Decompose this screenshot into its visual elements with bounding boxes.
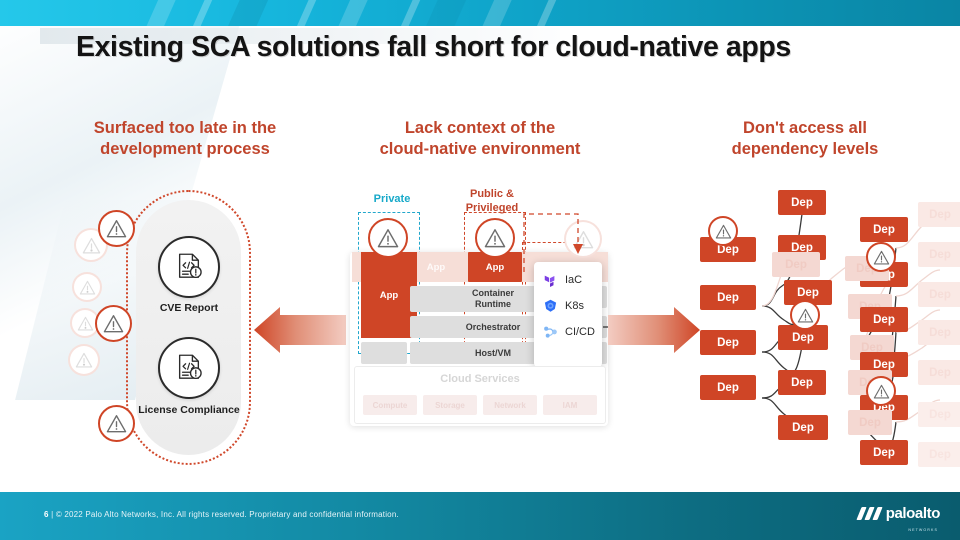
tooltip-card-context: IaC K8s CI/CD bbox=[534, 262, 602, 367]
page-number: 6 bbox=[44, 510, 49, 519]
dep-node-l2-6: Dep bbox=[778, 415, 828, 440]
cve-report-icon bbox=[158, 236, 220, 298]
dep-node-l1-3: Dep bbox=[700, 330, 756, 355]
dep-node-l2-5: Dep bbox=[778, 370, 826, 395]
cloud-tile-network: Network bbox=[483, 395, 537, 415]
dep-node-l4-1: Dep bbox=[918, 202, 960, 227]
warning-triangle-icon-1 bbox=[98, 210, 135, 247]
kubernetes-icon bbox=[542, 298, 558, 314]
slide: Existing SCA solutions fall short for cl… bbox=[0, 0, 960, 540]
license-compliance-label: License Compliance bbox=[129, 404, 249, 417]
cloud-services-box: Cloud Services Compute Storage Network I… bbox=[354, 366, 606, 424]
warning-triangle-icon-dep-1 bbox=[708, 216, 738, 246]
dep-node-l4-5: Dep bbox=[918, 360, 960, 385]
popup-item-iac-label: IaC bbox=[565, 274, 582, 286]
cloud-tile-iam: IAM bbox=[543, 395, 597, 415]
warning-triangle-icon-3 bbox=[98, 405, 135, 442]
arrow-right bbox=[608, 307, 700, 353]
app-tile-faded-1: App bbox=[410, 252, 462, 282]
paloalto-logo-text: paloalto bbox=[886, 505, 940, 522]
warning-triangle-icon-dep-2 bbox=[790, 300, 820, 330]
cloud-services-title: Cloud Services bbox=[355, 373, 605, 385]
page-title: Existing SCA solutions fall short for cl… bbox=[76, 31, 956, 64]
column-heading-middle: Lack context of the cloud-native environ… bbox=[355, 118, 605, 160]
warning-triangle-icon-ghost-4 bbox=[68, 344, 100, 376]
warning-triangle-icon-private bbox=[368, 218, 408, 258]
dep-node-l3-6: Dep bbox=[860, 440, 908, 465]
paloalto-logo-mark bbox=[859, 507, 881, 520]
column-heading-left: Surfaced too late in the development pro… bbox=[66, 118, 304, 160]
warning-triangle-icon-dep-3 bbox=[866, 242, 896, 272]
footer-separator: | bbox=[51, 510, 53, 519]
code-document-alert-icon bbox=[172, 250, 206, 284]
popup-item-iac[interactable]: IaC bbox=[542, 270, 582, 290]
warning-triangle-icon-2 bbox=[95, 305, 132, 342]
column-heading-right: Don't access all dependency levels bbox=[680, 118, 930, 160]
app-tile-private: App bbox=[361, 252, 417, 338]
popup-item-cicd[interactable]: CI/CD bbox=[542, 322, 595, 342]
column-heading-left-line1: Surfaced too late in the bbox=[66, 118, 304, 139]
terraform-icon bbox=[542, 272, 558, 288]
warning-triangle-icon-dep-4 bbox=[866, 376, 896, 406]
code-document-alert-icon bbox=[172, 351, 206, 385]
popup-item-cicd-label: CI/CD bbox=[565, 326, 595, 338]
column-heading-left-line2: development process bbox=[66, 139, 304, 160]
top-gradient-band bbox=[0, 0, 960, 26]
dep-node-l3-1: Dep bbox=[860, 217, 908, 242]
arrow-left bbox=[254, 307, 346, 353]
dep-node-l2-1: Dep bbox=[778, 190, 826, 215]
cloud-tile-storage: Storage bbox=[423, 395, 477, 415]
dep-node-l4-7: Dep bbox=[918, 442, 960, 467]
left-pill-dotted-outline bbox=[126, 190, 251, 465]
popup-item-k8s-label: K8s bbox=[565, 300, 584, 312]
dep-node-l4-2: Dep bbox=[918, 242, 960, 267]
warning-triangle-icon-ghost-2 bbox=[72, 272, 102, 302]
dep-node-l3-3: Dep bbox=[860, 307, 908, 332]
dep-node-l2-faded: Dep bbox=[772, 252, 820, 277]
dep-node-l4-4: Dep bbox=[918, 320, 960, 345]
popup-item-k8s[interactable]: K8s bbox=[542, 296, 584, 316]
column-heading-right-line2: dependency levels bbox=[680, 139, 930, 160]
footer-copyright: © 2022 Palo Alto Networks, Inc. All righ… bbox=[56, 510, 399, 519]
dep-node-l3-faded-5: Dep bbox=[848, 410, 892, 435]
footer-bar: 6 | © 2022 Palo Alto Networks, Inc. All … bbox=[0, 492, 960, 540]
footer-text: 6 | © 2022 Palo Alto Networks, Inc. All … bbox=[44, 510, 399, 519]
cve-report-label: CVE Report bbox=[129, 302, 249, 315]
cicd-pipeline-icon bbox=[542, 324, 558, 340]
zone-label-private: Private bbox=[352, 193, 432, 205]
column-heading-right-line1: Don't access all bbox=[680, 118, 930, 139]
cloud-tile-compute: Compute bbox=[363, 395, 417, 415]
license-compliance-icon bbox=[158, 337, 220, 399]
dep-node-l1-4: Dep bbox=[700, 375, 756, 400]
dep-node-l4-3: Dep bbox=[918, 282, 960, 307]
dep-node-l4-6: Dep bbox=[918, 402, 960, 427]
column-heading-middle-line1: Lack context of the bbox=[355, 118, 605, 139]
dep-node-l1-2: Dep bbox=[700, 285, 756, 310]
column-heading-middle-line2: cloud-native environment bbox=[355, 139, 605, 160]
paloalto-logo: paloalto NETWORKS bbox=[859, 505, 940, 522]
paloalto-logo-subtext: NETWORKS bbox=[908, 528, 938, 532]
stack-row-filler-left-a bbox=[361, 342, 407, 364]
dependency-tree-group: Dep Dep Dep Dep Dep Dep Dep Dep Dep Dep … bbox=[690, 180, 960, 480]
stack-row-container-runtime-label: ContainerRuntime bbox=[472, 288, 514, 310]
warning-triangle-icon-public bbox=[475, 218, 515, 258]
